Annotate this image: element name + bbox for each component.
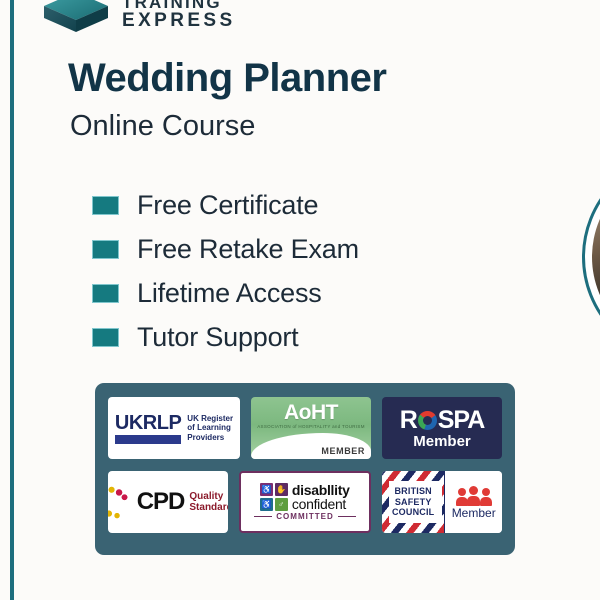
- aoht-status: MEMBER: [321, 446, 365, 456]
- hearing-icon: ♿: [260, 498, 273, 511]
- list-item: Tutor Support: [92, 322, 359, 353]
- bsc-line3: COUNCIL: [392, 507, 434, 517]
- dc-wordmark-line1: disabllity: [292, 483, 350, 497]
- feature-label: Free Retake Exam: [137, 234, 359, 265]
- aoht-subtext: ASSOCIATION of HOSPITALITY and TOURISM: [257, 424, 365, 429]
- list-item: Free Retake Exam: [92, 234, 359, 265]
- ukrlp-bar: [115, 435, 181, 444]
- ukrlp-wordmark: UKRLP: [115, 413, 181, 433]
- badge-disability-confident[interactable]: ♿ ✋ ♿ ♂ disabllity confident COMMITTED: [239, 471, 371, 533]
- feature-label: Free Certificate: [137, 190, 318, 221]
- bsc-striped-emblem: BRITISN SAFETY COUNCIL: [382, 471, 444, 533]
- filled-square-bullet-icon: [92, 328, 119, 347]
- people-group-icon: [456, 486, 491, 506]
- dc-status: COMMITTED: [276, 512, 333, 521]
- accreditation-row: UKRLP UK Register of Learning Providers …: [108, 397, 502, 459]
- disability-symbols-icon: ♿ ✋ ♿ ♂: [260, 483, 288, 511]
- accreditation-row: CPD Quality Standards ♿ ✋ ♿ ♂ disablli: [108, 471, 502, 533]
- wheelchair-icon: ♿: [260, 483, 273, 496]
- promo-card: TRAINING EXPRESS Wedding Planner Online …: [0, 0, 600, 600]
- sign-language-icon: ✋: [275, 483, 288, 496]
- rospa-wordmark-right: SPA: [438, 408, 485, 433]
- feature-list: Free Certificate Free Retake Exam Lifeti…: [92, 190, 359, 353]
- filled-square-bullet-icon: [92, 196, 119, 215]
- accessibility-icon: ♂: [275, 498, 288, 511]
- bsc-line1: BRITISN: [392, 486, 434, 496]
- dc-rule-left: [254, 516, 272, 518]
- rospa-status: Member: [413, 434, 471, 449]
- bsc-line2: SAFETY: [392, 497, 434, 507]
- page-subtitle: Online Course: [70, 110, 255, 143]
- brand-name-line2: EXPRESS: [122, 11, 236, 30]
- rospa-circle-icon: [418, 411, 437, 430]
- stacked-layers-icon: [42, 0, 110, 36]
- feature-label: Lifetime Access: [137, 278, 322, 309]
- badge-cpd[interactable]: CPD Quality Standards: [108, 471, 228, 533]
- portrait-image: [592, 162, 600, 352]
- ukrlp-desc-line2: of Learning: [187, 423, 233, 432]
- badge-aoht[interactable]: AoHT ASSOCIATION of HOSPITALITY and TOUR…: [251, 397, 371, 459]
- badge-ukrlp[interactable]: UKRLP UK Register of Learning Providers: [108, 397, 240, 459]
- instructor-portrait: [582, 152, 600, 362]
- ukrlp-desc-line1: UK Register: [187, 414, 233, 423]
- filled-square-bullet-icon: [92, 284, 119, 303]
- list-item: Lifetime Access: [92, 278, 359, 309]
- feature-label: Tutor Support: [137, 322, 298, 353]
- filled-square-bullet-icon: [92, 240, 119, 259]
- dc-rule-right: [338, 516, 356, 518]
- cpd-wordmark: CPD: [137, 490, 185, 514]
- left-accent-rule: [10, 0, 14, 600]
- accreditation-panel: UKRLP UK Register of Learning Providers …: [95, 383, 515, 555]
- page-title: Wedding Planner: [68, 56, 386, 101]
- cpd-dot-swirl-icon: [108, 485, 132, 519]
- cpd-desc-line1: Quality: [189, 491, 228, 502]
- ukrlp-desc-line3: Providers: [187, 433, 233, 442]
- badge-british-safety-council[interactable]: BRITISN SAFETY COUNCIL Member: [382, 471, 502, 533]
- list-item: Free Certificate: [92, 190, 359, 221]
- dc-wordmark-line2: confident: [292, 497, 350, 511]
- brand-logo[interactable]: TRAINING EXPRESS: [42, 0, 236, 36]
- bsc-status: Member: [452, 507, 496, 519]
- rospa-wordmark-left: R: [400, 408, 417, 433]
- badge-rospa[interactable]: R SPA Member: [382, 397, 502, 459]
- cpd-desc-line2: Standards: [189, 502, 228, 513]
- aoht-wordmark: AoHT: [284, 402, 338, 423]
